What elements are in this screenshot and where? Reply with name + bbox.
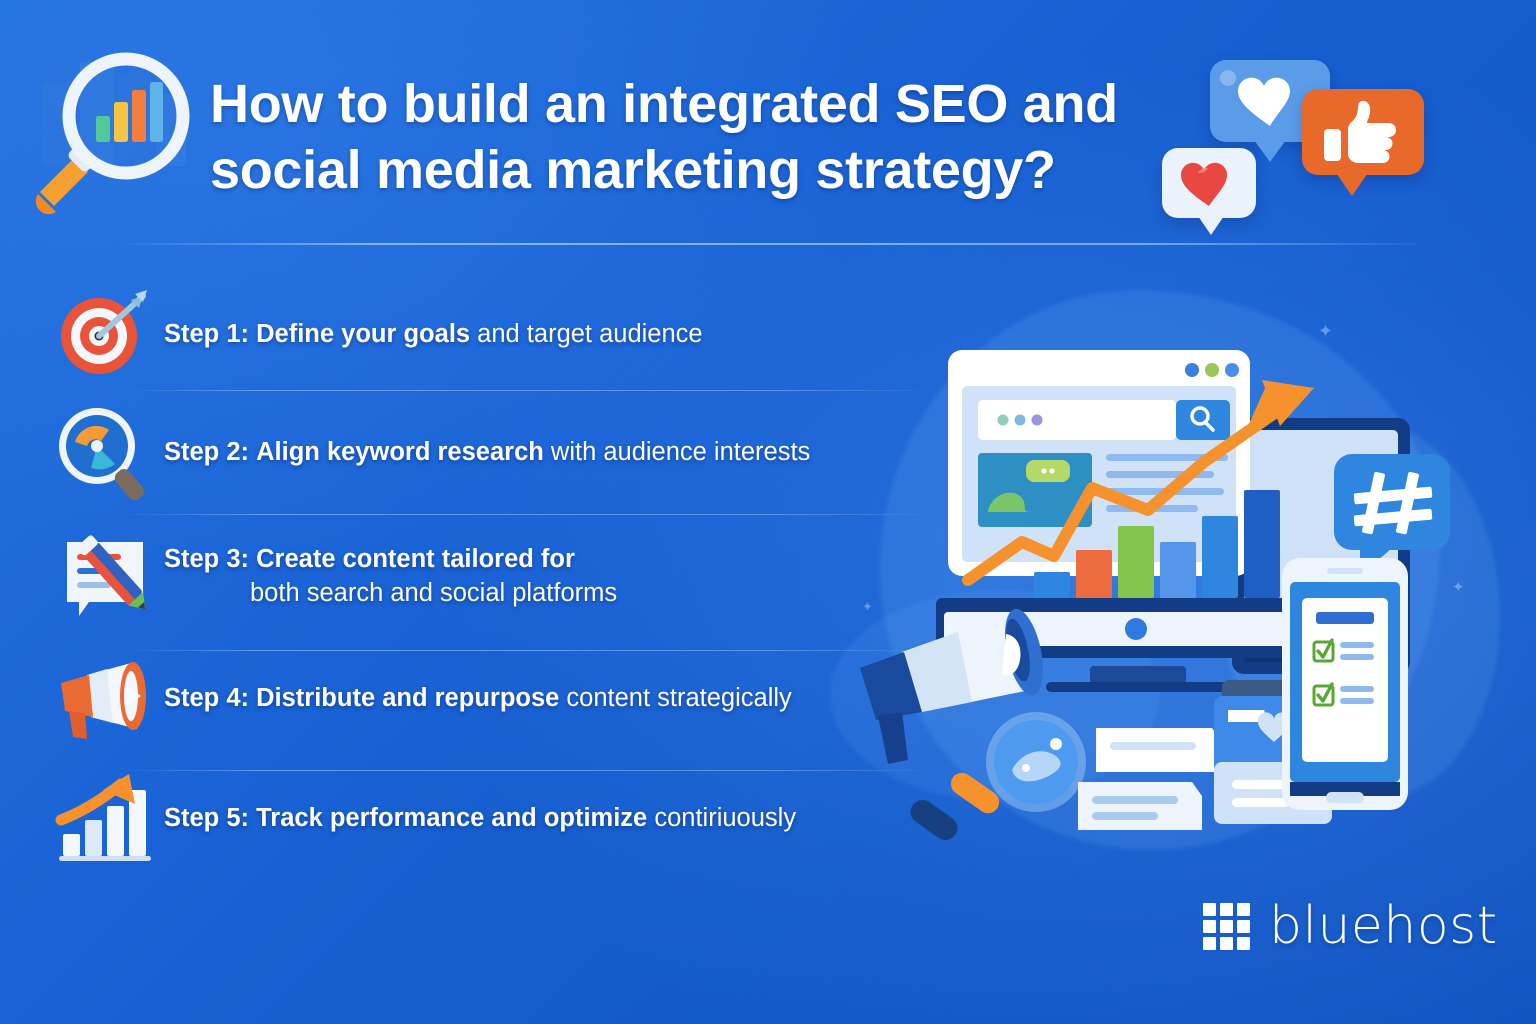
step-rest-text: and target audience bbox=[470, 320, 703, 348]
title-line-2: social media marketing strategy? bbox=[210, 138, 1130, 204]
infographic-canvas: ✦ ✦ ✦ ✦ ✦ bbox=[0, 0, 1536, 1024]
list-item[interactable]: Step 4: Distribute and repurpose content… bbox=[44, 638, 924, 758]
page-title: How to build an integrated SEO and socia… bbox=[210, 72, 1130, 204]
logo-text: bluehost bbox=[1269, 900, 1498, 952]
step-label: Step 5: bbox=[164, 804, 249, 832]
list-item[interactable]: Step 3: Create content tailored for both… bbox=[44, 514, 924, 638]
title-divider bbox=[128, 243, 1416, 245]
step-bold-text: Distribute and repurpose bbox=[256, 684, 559, 712]
step-rest-text: contiriuously bbox=[647, 804, 796, 832]
list-item[interactable]: Step 5: Track performance and optimize c… bbox=[44, 758, 924, 878]
step-label: Step 1: bbox=[164, 320, 249, 348]
red-heart-bubble-icon bbox=[1162, 148, 1256, 218]
step-label: Step 4: bbox=[164, 684, 249, 712]
step-label: Step 2: bbox=[164, 438, 249, 466]
grid-3x3-icon bbox=[1203, 903, 1250, 950]
title-line-1: How to build an integrated SEO and bbox=[210, 74, 1118, 134]
step-bold-text: Create content tailored for bbox=[256, 545, 575, 573]
step-bold-text: Track performance and optimize bbox=[256, 804, 647, 832]
magnifier-bar-chart-icon bbox=[22, 44, 197, 214]
social-reaction-bubbles bbox=[1150, 55, 1450, 255]
seo-social-illustration bbox=[840, 330, 1500, 870]
step-rest-text: with audience interests bbox=[544, 438, 810, 466]
bluehost-logo[interactable]: bluehost bbox=[1203, 900, 1498, 952]
thumbs-up-bubble-icon bbox=[1302, 89, 1424, 175]
step-bold-text: Define your goals bbox=[256, 320, 470, 348]
list-item[interactable]: Step 2: Align keyword research with audi… bbox=[44, 390, 924, 514]
step-text: Step 4: Distribute and repurpose content… bbox=[162, 681, 792, 715]
step-rest-text: both search and social platforms bbox=[250, 576, 617, 610]
megaphone-icon bbox=[44, 653, 162, 743]
growth-bar-chart-icon bbox=[44, 772, 162, 864]
step-text: Step 1: Define your goals and target aud… bbox=[162, 317, 703, 351]
magnifier-pie-chart-icon bbox=[44, 402, 162, 502]
step-text: Step 2: Align keyword research with audi… bbox=[162, 435, 810, 469]
step-label: Step 3: bbox=[164, 545, 249, 573]
list-item[interactable]: Step 1: Define your goals and target aud… bbox=[44, 278, 924, 390]
step-rest-text: content strategically bbox=[559, 684, 791, 712]
document-pencil-icon bbox=[44, 526, 162, 626]
target-dart-icon bbox=[44, 286, 162, 382]
step-text: Step 5: Track performance and optimize c… bbox=[162, 801, 796, 835]
steps-list: Step 1: Define your goals and target aud… bbox=[44, 278, 924, 878]
step-text: Step 3: Create content tailored for both… bbox=[162, 542, 617, 610]
step-bold-text: Align keyword research bbox=[256, 438, 544, 466]
